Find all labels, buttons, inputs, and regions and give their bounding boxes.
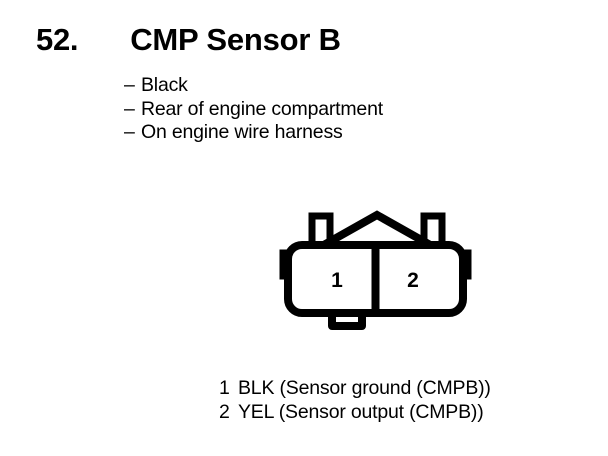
legend-row: 1BLK (Sensor ground (CMPB)) — [219, 377, 599, 401]
legend-pin-description: YEL (Sensor output (CMPB)) — [238, 401, 484, 423]
list-item: –Black — [124, 74, 554, 98]
legend-row: 2YEL (Sensor output (CMPB)) — [219, 401, 599, 425]
list-item-label: On engine wire harness — [141, 121, 343, 143]
legend-pin-number: 2 — [219, 401, 238, 425]
dash-icon: – — [124, 121, 141, 145]
dash-icon: – — [124, 98, 141, 122]
list-item-label: Rear of engine compartment — [141, 98, 383, 120]
pin-legend: 1BLK (Sensor ground (CMPB)) 2YEL (Sensor… — [219, 377, 599, 424]
page-header: 52.CMP Sensor B — [36, 22, 556, 64]
diagram-page: 52.CMP Sensor B –Black –Rear of engine c… — [0, 0, 608, 456]
cavity-number-1: 1 — [331, 269, 343, 292]
dash-icon: – — [124, 74, 141, 98]
connector-illustration: 1 2 — [270, 200, 480, 340]
list-item: –Rear of engine compartment — [124, 98, 554, 122]
item-number: 52. — [36, 22, 78, 58]
connector-diagram: 1 2 — [270, 200, 480, 340]
detail-list: –Black –Rear of engine compartment –On e… — [124, 74, 554, 145]
list-item: –On engine wire harness — [124, 121, 554, 145]
page-title: CMP Sensor B — [130, 22, 341, 58]
legend-pin-description: BLK (Sensor ground (CMPB)) — [238, 377, 491, 399]
legend-pin-number: 1 — [219, 377, 238, 401]
cavity-number-2: 2 — [407, 269, 419, 292]
list-item-label: Black — [141, 74, 188, 96]
